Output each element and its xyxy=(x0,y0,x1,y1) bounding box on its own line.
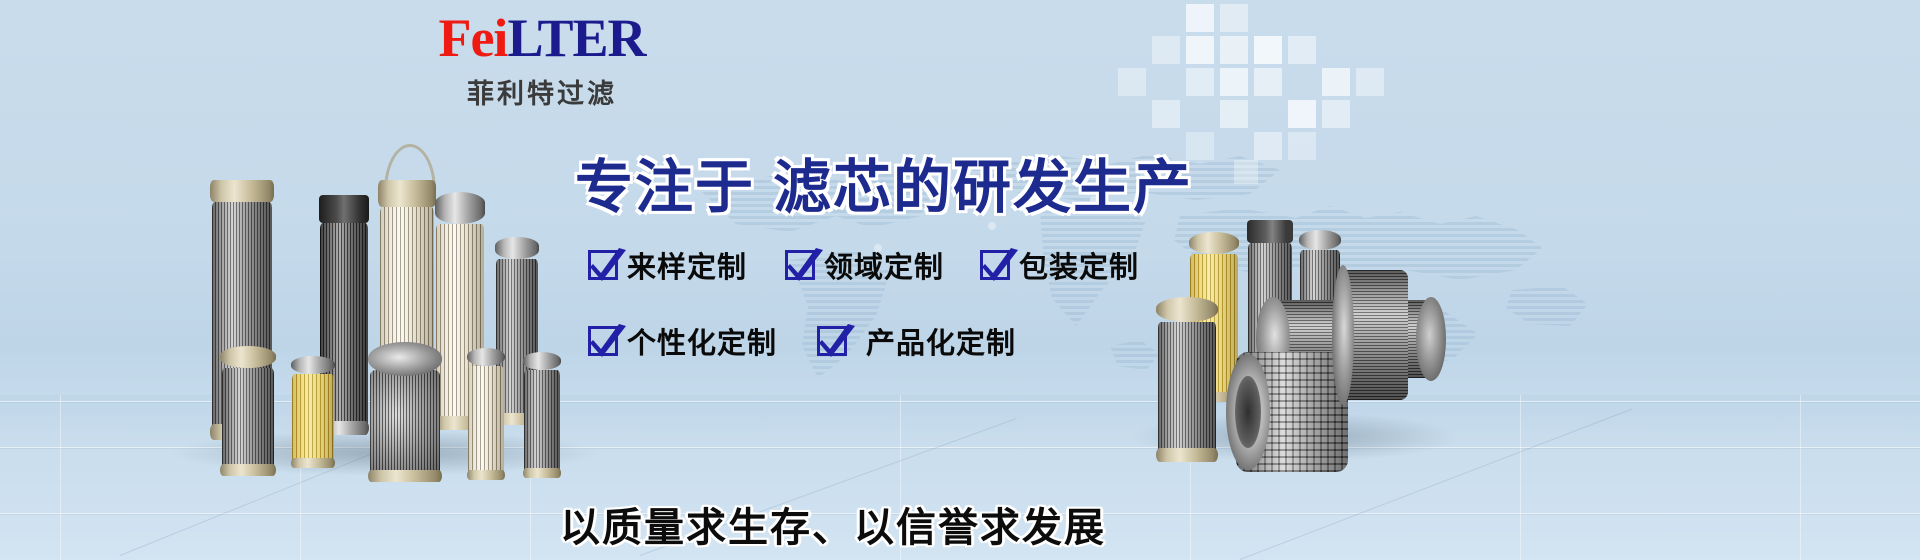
brand-wordmark-rest: LTER xyxy=(507,8,645,68)
brand-logo: FeiLTER 菲利特过滤 xyxy=(392,8,692,111)
feature-label: 来样定制 xyxy=(627,244,747,286)
headline-part2: 滤芯的研发生产 xyxy=(773,153,1193,221)
feature-row-2: 个性化定制 产品化定制 xyxy=(588,320,1228,362)
feature-list: 来样定制 领域定制 包装定制 个性化定制 xyxy=(588,244,1228,386)
feature-item[interactable]: 产品化定制 xyxy=(817,320,1016,362)
feature-item[interactable]: 包装定制 xyxy=(980,244,1139,286)
checkbox-checked-icon xyxy=(588,326,618,356)
checkbox-checked-icon xyxy=(817,326,847,356)
filter-cartridge-horizontal xyxy=(1340,270,1408,400)
brand-wordmark-first: Fei xyxy=(438,8,507,68)
brand-wordmark-cn: 菲利特过滤 xyxy=(392,72,692,111)
checkbox-checked-icon xyxy=(588,250,618,280)
filter-cartridge xyxy=(380,180,434,395)
checkbox-checked-icon xyxy=(785,250,815,280)
feature-label: 产品化定制 xyxy=(866,320,1016,362)
tagline: 以质量求生存、以信誉求发展 xyxy=(560,495,1106,553)
feature-label: 包装定制 xyxy=(1019,244,1139,286)
filter-cartridge xyxy=(1248,220,1292,395)
feature-item[interactable]: 领域定制 xyxy=(785,244,944,286)
feature-row-1: 来样定制 领域定制 包装定制 xyxy=(588,244,1228,286)
checkbox-checked-icon xyxy=(980,250,1010,280)
filter-cartridge-horizontal xyxy=(1272,300,1432,378)
filter-cartridge xyxy=(1300,230,1340,390)
feature-item[interactable]: 来样定制 xyxy=(588,244,747,286)
headline: 专注于滤芯的研发生产 xyxy=(575,140,1193,224)
brand-wordmark: FeiLTER xyxy=(392,8,692,68)
feature-label: 个性化定制 xyxy=(627,320,777,362)
headline-part1: 专注于 xyxy=(575,153,755,221)
feature-label: 领域定制 xyxy=(824,244,944,286)
promo-banner: FeiLTER 菲利特过滤 专注于滤芯的研发生产 来样定制 领域定制 xyxy=(0,0,1920,560)
feature-item[interactable]: 个性化定制 xyxy=(588,320,777,362)
